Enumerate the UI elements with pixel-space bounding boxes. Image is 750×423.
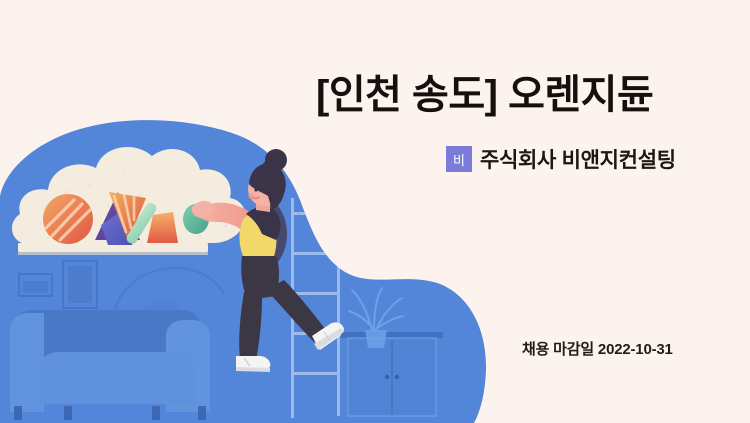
orange-striped-sphere [43,194,93,244]
job-posting-banner: [인천 송도] 오렌지듄 비 주식회사 비앤지컨설팅 채용 마감일 2022-1… [0,0,750,423]
sofa [10,310,210,420]
company-name: 주식회사 비앤지컨설팅 [480,144,676,174]
cabinet [341,332,443,416]
company-row: 비 주식회사 비앤지컨설팅 [446,144,676,174]
picture-frame-portrait [63,261,97,308]
application-deadline: 채용 마감일 2022-10-31 [522,338,673,359]
job-title: [인천 송도] 오렌지듄 [316,72,716,118]
company-logo-badge: 비 [446,146,472,172]
illustration [0,0,750,423]
sneaker-front [236,356,270,372]
